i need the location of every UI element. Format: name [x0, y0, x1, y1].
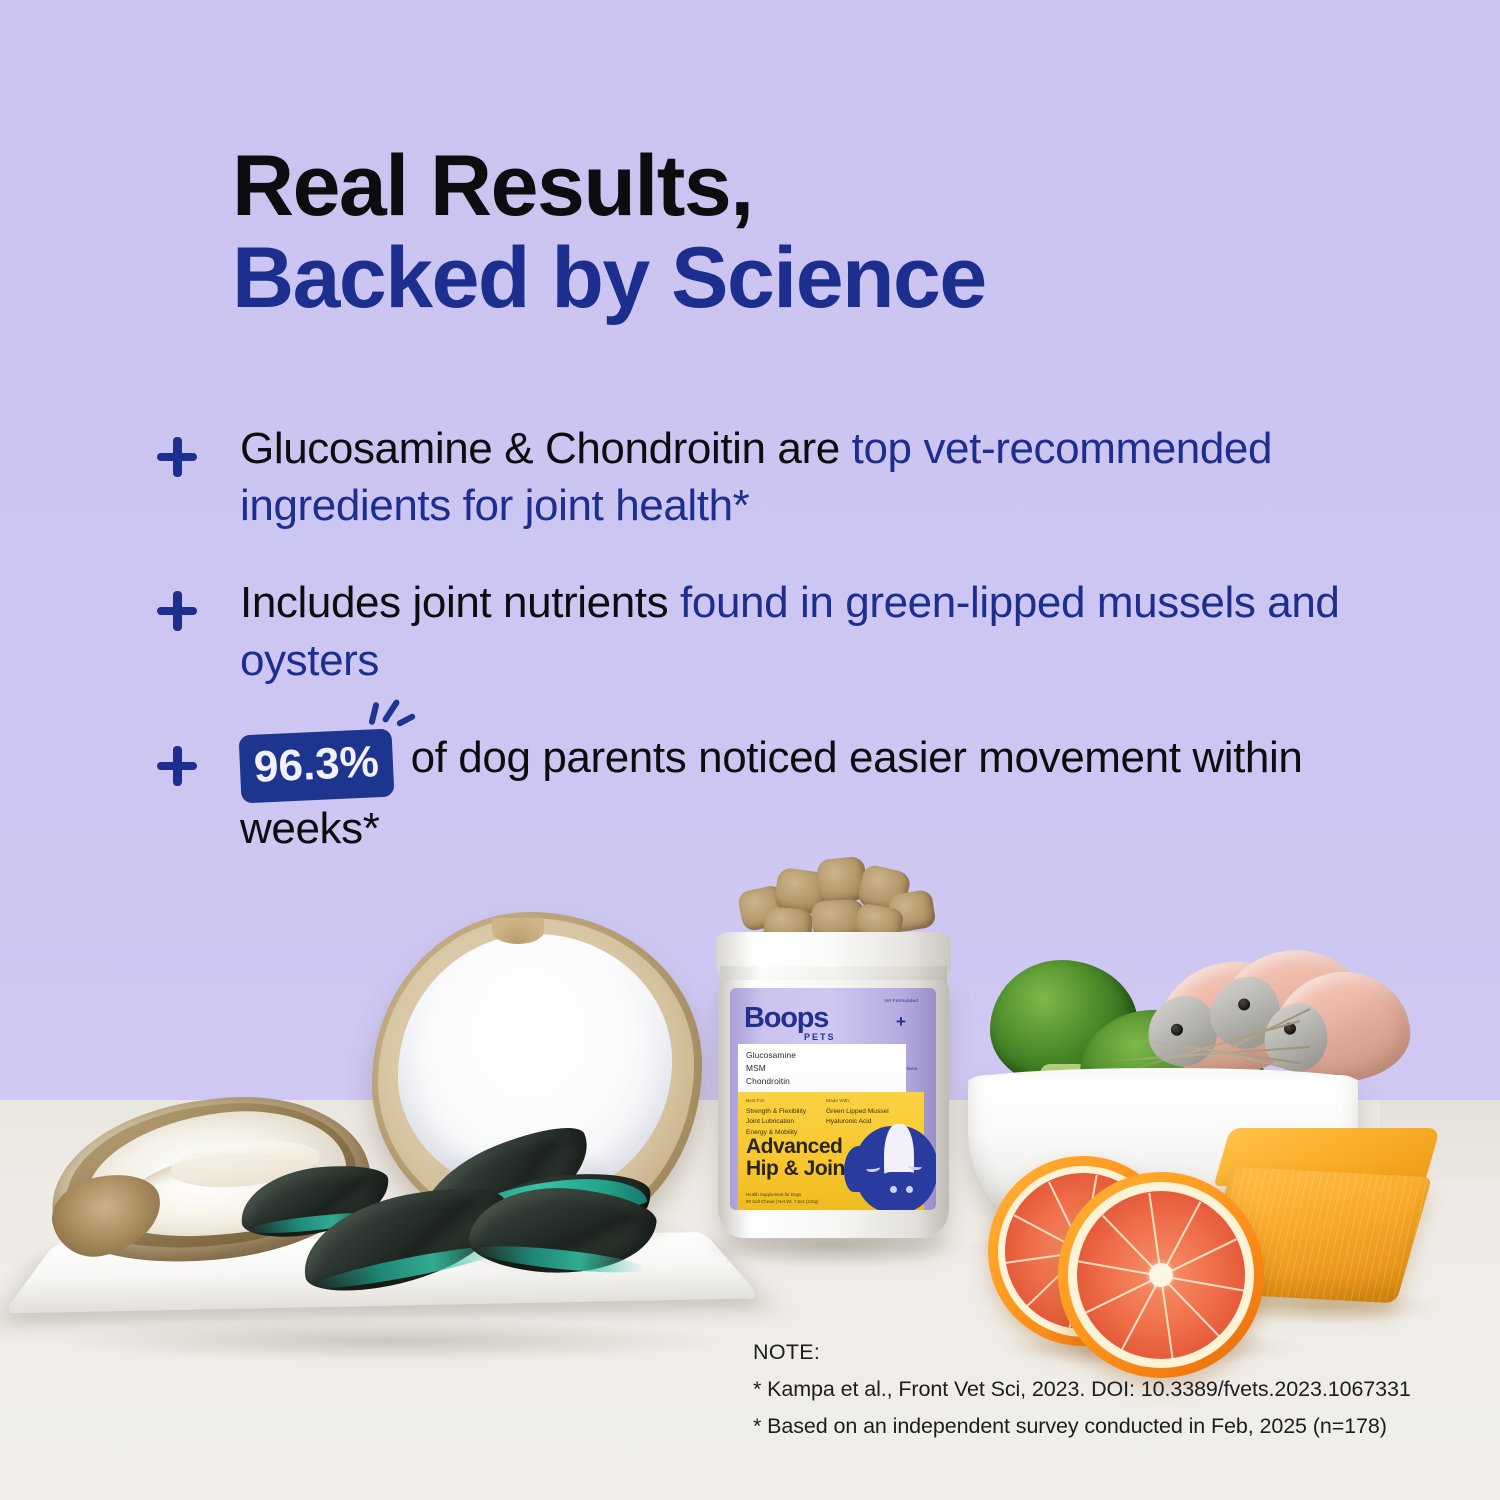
best-for-column: Best For: Strength & Flexibility Joint L… [746, 1098, 826, 1139]
note-label: NOTE: [753, 1334, 1453, 1371]
best-for-heading: Best For: [746, 1098, 826, 1106]
plate-shadow [60, 1320, 720, 1362]
sparkle-icon [361, 698, 419, 742]
product-fine-print: Health Supplement for Dogs 90 Soft Chews… [746, 1192, 819, 1205]
ingredient-list: Glucosamine MSM Chondroitin [738, 1044, 906, 1088]
brand-subtitle: PETS [804, 1032, 836, 1042]
product-title: Advanced Hip & Joint [746, 1136, 851, 1181]
dog-mascot-icon [844, 1120, 936, 1210]
note-line-2: * Based on an independent survey conduct… [753, 1408, 1453, 1445]
stat-highlight-wrapper: 96.3% [240, 732, 393, 800]
plus-icon [156, 590, 198, 632]
benefit-2-black: Includes joint nutrients [240, 578, 680, 627]
plus-icon [156, 745, 198, 787]
best-for-list: Strength & Flexibility Joint Lubrication… [746, 1108, 806, 1136]
benefit-1-black: Glucosamine & Chondroitin are [240, 424, 852, 473]
headline-line-1: Real Results, [232, 140, 1382, 232]
supplement-jar: Boops PETS + Vet Formulated ⌣ Chicken Fl… [716, 916, 951, 1248]
benefit-item-1: Glucosamine & Chondroitin are top vet-re… [152, 420, 1442, 534]
benefit-item-2: Includes joint nutrients found in green-… [152, 574, 1442, 688]
page-title: Real Results, Backed by Science [232, 140, 1382, 324]
footnotes: NOTE: * Kampa et al., Front Vet Sci, 202… [753, 1334, 1453, 1445]
benefit-list: Glucosamine & Chondroitin are top vet-re… [152, 420, 1442, 897]
plus-icon [156, 436, 198, 478]
made-with-heading: Made With: [826, 1098, 922, 1106]
benefit-3-black: of dog parents noticed easier movement w… [240, 733, 1302, 853]
benefit-text-1: Glucosamine & Chondroitin are top vet-re… [240, 420, 1442, 534]
benefit-text-3: 96.3% of dog parents noticed easier move… [240, 729, 1442, 857]
ingredient-panel: Glucosamine MSM Chondroitin [738, 1044, 906, 1092]
jar-label: Boops PETS + Vet Formulated ⌣ Chicken Fl… [730, 988, 936, 1210]
vet-formulated-badge-icon: + [886, 1006, 916, 1036]
benefit-text-2: Includes joint nutrients found in green-… [240, 574, 1442, 688]
soft-chew-treats [734, 854, 934, 940]
benefit-item-3: 96.3% of dog parents noticed easier move… [152, 729, 1442, 857]
marketing-image-canvas: Real Results, Backed by Science Glucosam… [0, 0, 1500, 1500]
note-line-1: * Kampa et al., Front Vet Sci, 2023. DOI… [753, 1371, 1453, 1408]
headline-line-2: Backed by Science [232, 232, 1382, 324]
brand-name: Boops [744, 1002, 828, 1035]
vet-formulated-badge-text: Vet Formulated [878, 998, 924, 1004]
